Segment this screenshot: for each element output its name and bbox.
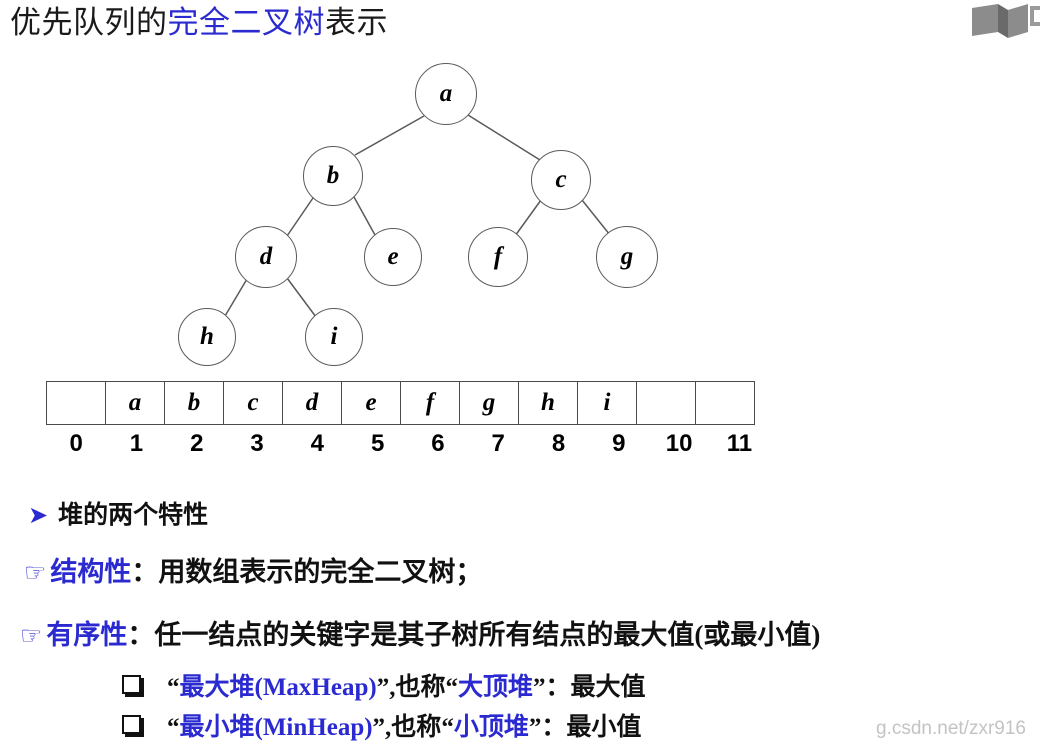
bullet-item-structure-rest: ：用数组表示的完全二叉树；	[131, 557, 482, 587]
edge-a-b	[355, 116, 424, 155]
array-cell-2[interactable]: b	[165, 382, 224, 425]
tree-node-label: d	[260, 243, 273, 271]
array-cell-11[interactable]	[696, 382, 755, 425]
bullet-item-order-term: 有序性	[46, 620, 127, 650]
array-cell-4[interactable]: d	[283, 382, 342, 425]
bullet-item-structure: ☞结构性：用数组表示的完全二叉树；	[24, 550, 482, 589]
edge-b-d	[287, 198, 313, 236]
array-cell-6[interactable]: f	[401, 382, 460, 425]
array-cell-9[interactable]: i	[578, 382, 637, 425]
tree-node-label: c	[555, 166, 566, 194]
array-index-8: 8	[528, 430, 588, 458]
array-index-3: 3	[227, 430, 287, 458]
array-index-10: 10	[649, 430, 709, 458]
array-cell-3[interactable]: c	[224, 382, 283, 425]
tree-node-label: f	[494, 243, 502, 271]
edge-d-h	[225, 279, 247, 316]
maxheap-tail: ：最大值	[545, 674, 645, 701]
array-cell-8[interactable]: h	[519, 382, 578, 425]
quote-close-2: ”	[533, 674, 546, 701]
quote-close: ”	[377, 674, 390, 701]
maxheap-alias: 大顶堆	[458, 674, 533, 701]
bullet-item-order-rest: ：任一结点的关键字是其子树所有结点的最大值(或最小值)	[127, 620, 820, 650]
quote-open-2: “	[445, 674, 458, 701]
tree-node-b[interactable]: b	[303, 146, 363, 206]
array-index-9: 9	[589, 430, 649, 458]
table-row: a b c d e f g h i	[47, 382, 755, 425]
tree-node-g[interactable]: g	[596, 226, 658, 288]
tree-node-f[interactable]: f	[468, 227, 528, 287]
tree-node-label: i	[331, 323, 338, 351]
tree-node-label: h	[200, 323, 214, 351]
pointing-hand-icon: ☞	[24, 558, 46, 587]
array-cell-7[interactable]: g	[460, 382, 519, 425]
quote-close: ”	[373, 714, 386, 741]
array-index-2: 2	[167, 430, 227, 458]
tree-node-a[interactable]: a	[415, 63, 477, 125]
array-cell-0[interactable]	[47, 382, 106, 425]
array-cell-5[interactable]: e	[342, 382, 401, 425]
binary-tree-diagram: a b c d e f g h i	[0, 0, 1042, 380]
tree-node-label: a	[440, 80, 453, 108]
array-cell-10[interactable]	[637, 382, 696, 425]
tree-node-d[interactable]: d	[235, 226, 297, 288]
edge-c-f	[515, 200, 541, 236]
arrow-bullet-icon: ➤	[28, 501, 48, 529]
square-bullet-icon	[122, 675, 141, 694]
bullet-item-structure-term: 结构性	[50, 557, 131, 587]
quote-close-2: ”	[529, 714, 542, 741]
array-representation: a b c d e f g h i	[46, 381, 755, 425]
array-index-0: 0	[46, 430, 106, 458]
minheap-tail: ：最小值	[541, 714, 641, 741]
tree-node-i[interactable]: i	[305, 308, 363, 366]
edge-c-g	[582, 200, 610, 235]
array-index-11: 11	[709, 430, 769, 458]
bullet-sub-maxheap: “最大堆(MaxHeap)”,也称“大顶堆”：最大值	[122, 667, 646, 703]
tree-node-label: e	[387, 243, 398, 271]
array-index-row: 0 1 2 3 4 5 6 7 8 9 10 11	[46, 430, 770, 458]
bullet-heading: ➤堆的两个特性	[28, 495, 208, 531]
quote-open-2: “	[441, 714, 454, 741]
minheap-term: 最小堆(MinHeap)	[180, 714, 373, 741]
minheap-mid: ,也称	[385, 714, 441, 741]
quote-open: “	[167, 674, 180, 701]
slide-canvas: 优先队列的完全二叉树表示 a b c d e f g h	[0, 0, 1042, 753]
square-bullet-icon	[122, 715, 141, 734]
pointing-hand-icon: ☞	[20, 621, 42, 650]
minheap-alias: 小顶堆	[454, 714, 529, 741]
array-index-6: 6	[408, 430, 468, 458]
array-table: a b c d e f g h i	[46, 381, 755, 425]
edge-a-c	[468, 115, 540, 160]
tree-node-label: g	[621, 243, 634, 271]
array-index-4: 4	[287, 430, 347, 458]
array-index-1: 1	[106, 430, 166, 458]
tree-node-label: b	[327, 162, 340, 190]
bullet-heading-label: 堆的两个特性	[58, 502, 208, 529]
watermark: g.csdn.net/zxr916	[876, 718, 1026, 740]
array-cell-1[interactable]: a	[106, 382, 165, 425]
edge-d-i	[287, 278, 316, 317]
maxheap-mid: ,也称	[389, 674, 445, 701]
array-index-5: 5	[347, 430, 407, 458]
tree-node-c[interactable]: c	[531, 150, 591, 210]
quote-open: “	[167, 714, 180, 741]
bullet-sub-minheap: “最小堆(MinHeap)”,也称“小顶堆”：最小值	[122, 707, 641, 743]
maxheap-term: 最大堆(MaxHeap)	[180, 674, 377, 701]
array-index-7: 7	[468, 430, 528, 458]
tree-edges	[0, 0, 1042, 380]
tree-node-h[interactable]: h	[178, 308, 236, 366]
edge-b-e	[354, 197, 375, 235]
bullet-item-order: ☞有序性：任一结点的关键字是其子树所有结点的最大值(或最小值)	[20, 613, 820, 652]
tree-node-e[interactable]: e	[364, 228, 422, 286]
